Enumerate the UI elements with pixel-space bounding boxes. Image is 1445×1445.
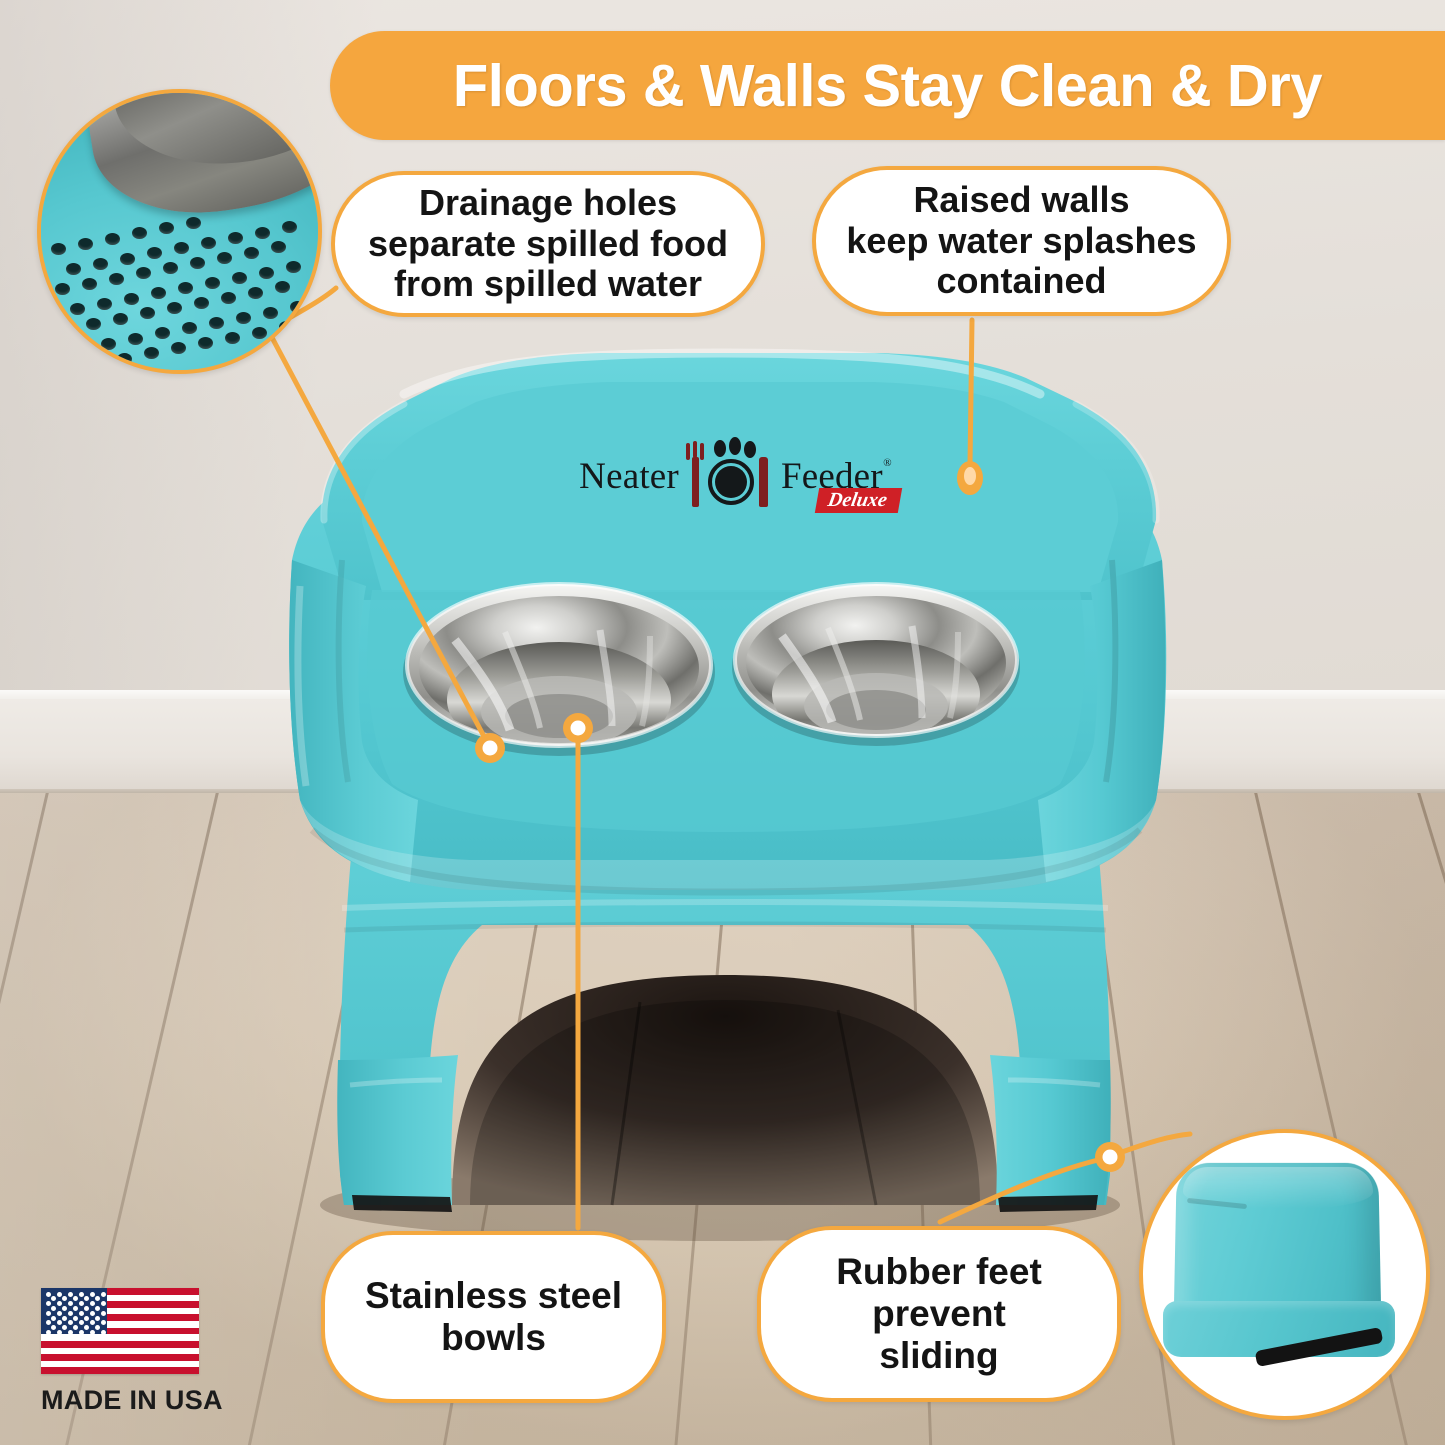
paw-plate-fork-knife-icon [684,441,776,511]
flag-star [79,1292,84,1297]
flag-star [101,1301,106,1306]
drainage-hole [194,297,209,309]
flag-star [73,1316,78,1321]
flag-star [84,1316,89,1321]
header-banner: Floors & Walls Stay Clean & Dry [330,31,1445,140]
drainage-hole [86,318,101,330]
flag-star [95,1316,100,1321]
drainage-hole [252,327,267,339]
stainless-steel-bowls-callout: Stainless steelbowls [321,1231,666,1403]
logo-deluxe-badge: Deluxe [815,488,902,513]
flag-stripe [41,1367,199,1374]
flag-star [101,1320,106,1325]
drainage-hole [105,233,120,245]
drainage-hole [259,267,274,279]
drainage-hole [109,273,124,285]
flag-star [90,1320,95,1325]
logo-word-left: Neater [579,455,679,498]
flag-star [90,1292,95,1297]
made-in-usa-label: MADE IN USA [41,1385,216,1416]
drainage-hole [248,287,263,299]
flag-star [68,1330,73,1335]
flag-star [68,1292,73,1297]
drainage-hole [221,292,236,304]
drainage-hole [198,337,213,349]
flag-star [46,1311,51,1316]
flag-star [90,1330,95,1335]
drainage-hole [232,272,247,284]
flag-star [79,1320,84,1325]
drainage-hole [201,237,216,249]
drainage-hole [205,277,220,289]
drainage-hole [51,243,66,255]
drainage-hole [82,278,97,290]
drainage-hole [244,247,259,259]
flag-star [101,1311,106,1316]
flag-star [101,1330,106,1335]
drainage-hole [113,313,128,325]
flag-star [68,1311,73,1316]
raised-walls-callout: Raised wallskeep water splashescontained [812,166,1231,316]
drainage-hole [124,293,139,305]
flag-star [79,1330,84,1335]
header-banner-text: Floors & Walls Stay Clean & Dry [453,52,1322,120]
raised-walls-callout-text: Raised wallskeep water splashescontained [846,180,1196,302]
flag-star [46,1320,51,1325]
drainage-hole [190,257,205,269]
rubber-feet-callout: Rubber feetpreventsliding [757,1226,1121,1402]
knife-icon [759,457,768,507]
flag-star [68,1320,73,1325]
drainage-hole [90,358,105,370]
flag-star [79,1311,84,1316]
drainage-hole [117,353,132,365]
flag-star [46,1301,51,1306]
flag-star [62,1306,67,1311]
flag-star [57,1320,62,1325]
flag-star [57,1301,62,1306]
rubber-feet-detail-inset [1139,1129,1430,1420]
drainage-hole [217,252,232,264]
flag-star [51,1306,56,1311]
drainage-holes-detail-inset [37,89,322,374]
drainage-hole [225,332,240,344]
flag-stripe [41,1354,199,1361]
drainage-hole [59,323,74,335]
drainage-hole [101,338,116,350]
drainage-hole [263,307,278,319]
flag-star [68,1301,73,1306]
drainage-hole [97,298,112,310]
drainage-hole [74,343,89,355]
drainage-hole [128,333,143,345]
fork-icon [692,457,699,507]
drainage-hole [55,283,70,295]
drainage-hole [78,238,93,250]
flag-star [46,1292,51,1297]
drainage-hole [186,217,201,229]
drainage-hole [209,317,224,329]
rubber-feet-callout-text: Rubber feetpreventsliding [836,1251,1042,1376]
flag-star [90,1301,95,1306]
product-infographic: Neater Feeder® Deluxe [0,0,1445,1445]
flag-star [101,1292,106,1297]
drainage-holes-callout-text: Drainage holesseparate spilled foodfrom … [368,183,728,305]
flag-star [51,1316,56,1321]
flag-star [84,1306,89,1311]
flag-star [95,1306,100,1311]
flag-star [62,1316,67,1321]
drainage-hole [70,303,85,315]
flag-star [57,1330,62,1335]
drainage-hole [228,232,243,244]
flag-star [73,1306,78,1311]
stainless-steel-bowls-callout-text: Stainless steelbowls [365,1275,622,1359]
flag-star [57,1292,62,1297]
us-flag-icon [41,1288,199,1374]
neater-feeder-logo: Neater Feeder® Deluxe [566,440,896,512]
drainage-hole [255,227,270,239]
drainage-hole [93,258,108,270]
flag-stripe [41,1341,199,1348]
flag-star [90,1311,95,1316]
flag-star [79,1301,84,1306]
flag-star [57,1311,62,1316]
flag-star [46,1330,51,1335]
drainage-holes-callout: Drainage holesseparate spilled foodfrom … [331,171,765,317]
made-in-usa-badge: MADE IN USA [41,1288,216,1416]
drainage-hole [66,263,81,275]
drainage-hole [236,312,251,324]
registered-mark: ® [883,457,892,469]
drainage-hole [120,253,135,265]
